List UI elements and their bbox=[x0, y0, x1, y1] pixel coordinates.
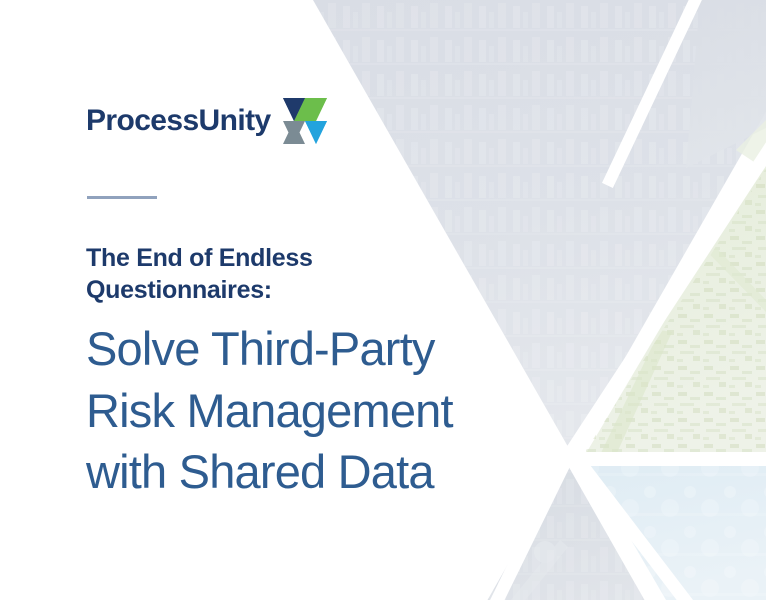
divider-rule bbox=[87, 196, 157, 199]
artwork-facet-green bbox=[585, 150, 766, 455]
artwork-facet-grey-topright bbox=[686, 0, 766, 168]
page-title: Solve Third-Party Risk Management with S… bbox=[86, 318, 556, 503]
cover-page: ProcessUnity The End of Endless Question… bbox=[0, 0, 766, 600]
processunity-chevron-mark-icon bbox=[282, 96, 328, 146]
logo-wordmark: ProcessUnity bbox=[86, 106, 271, 136]
headline-line-2: Risk Management bbox=[86, 380, 556, 442]
headline-line-3: with Shared Data bbox=[86, 441, 556, 503]
artwork-facet-green-top bbox=[736, 120, 766, 170]
eyebrow-line-1: The End of Endless bbox=[86, 242, 556, 274]
eyebrow-line-2: Questionnaires: bbox=[86, 274, 556, 306]
artwork-facet-blue-lower bbox=[588, 466, 766, 600]
brand-logo[interactable]: ProcessUnity bbox=[86, 96, 328, 146]
headline-line-1: Solve Third-Party bbox=[86, 318, 556, 380]
title-block: The End of Endless Questionnaires: Solve… bbox=[86, 242, 556, 503]
eyebrow-heading: The End of Endless Questionnaires: bbox=[86, 242, 556, 306]
